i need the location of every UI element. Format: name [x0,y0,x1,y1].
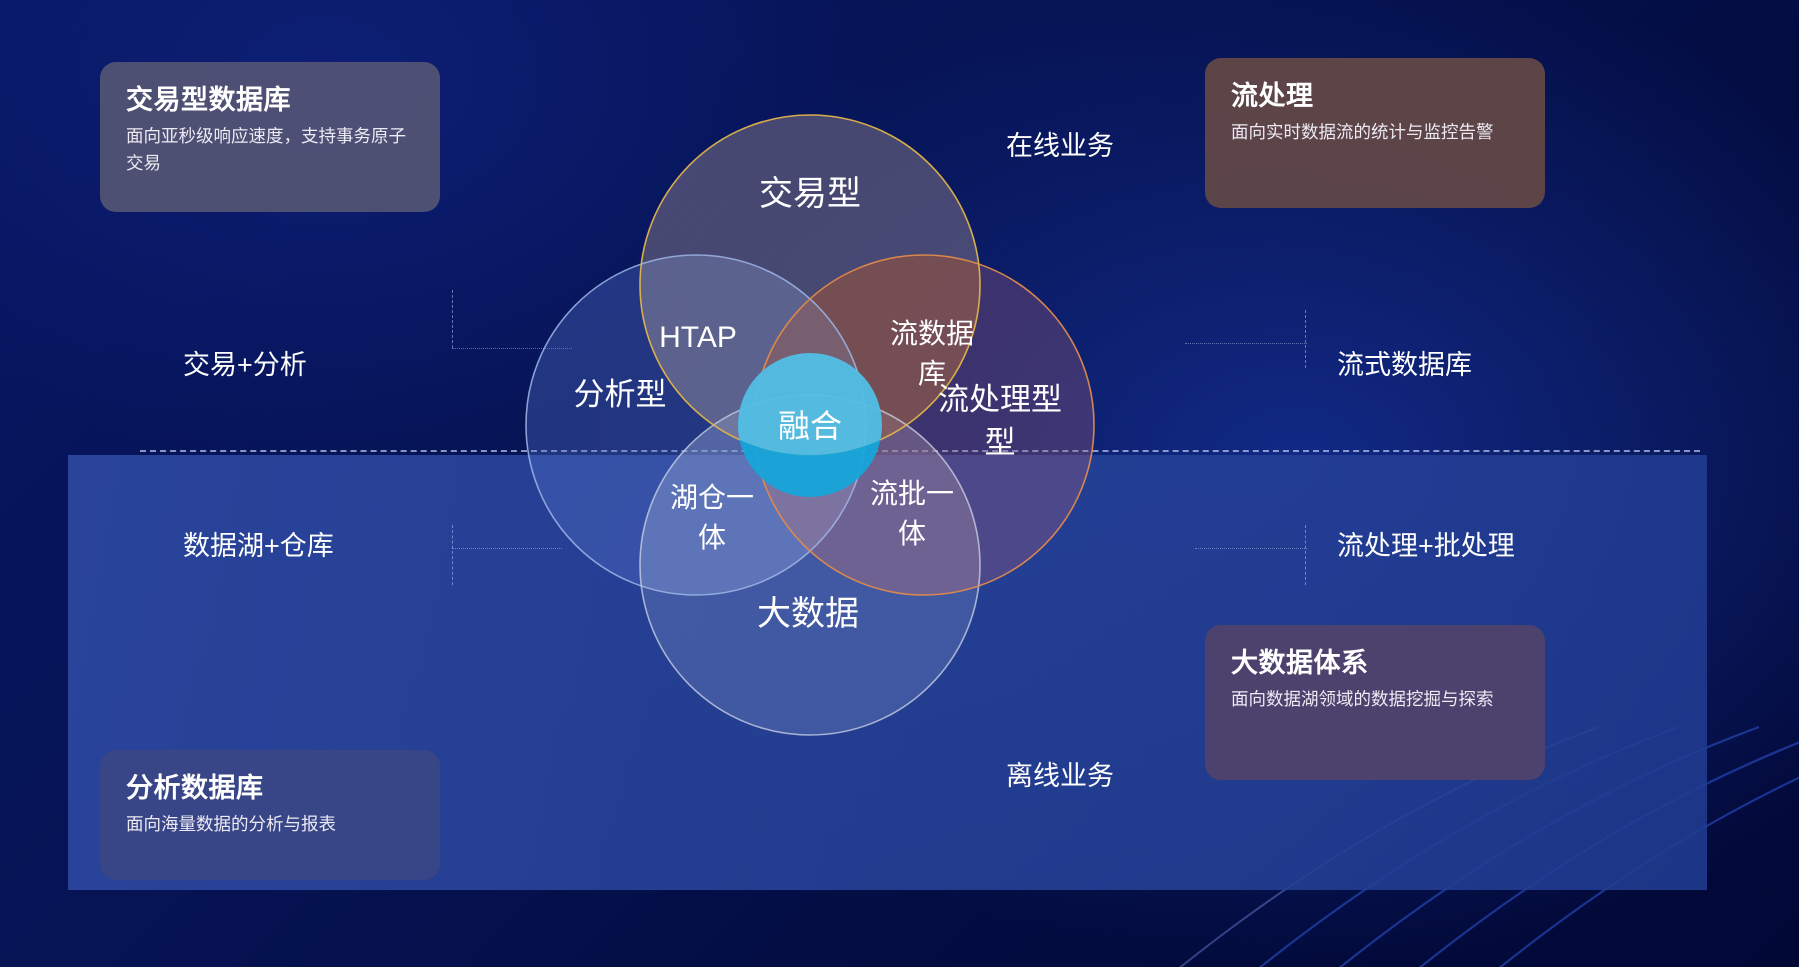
card-description: 面向数据湖领域的数据挖掘与探索 [1231,686,1519,713]
venn-label-htap: HTAP [659,321,737,354]
card-title: 交易型数据库 [126,84,414,117]
label-offline-business: 离线业务 [1006,760,1114,794]
card-title: 流处理 [1231,80,1519,113]
right-tick-upper [1305,310,1306,368]
venn-label-stream-db-2: 库 [918,358,946,389]
venn-label-stream-db-1: 流数据 [890,318,974,349]
slide-canvas: 交易型 分析型 流处理型 型 大数据 HTAP 流数据 库 湖仓一 体 流批一 … [0,0,1799,967]
venn-label-fusion: 融合 [778,408,842,444]
label-transaction-plus-analysis: 交易+分析 [183,349,307,383]
right-tick-lower [1305,525,1306,585]
card-description: 面向亚秒级响应速度，支持事务原子交易 [126,123,414,176]
venn-label-analytical: 分析型 [574,377,667,412]
right-leader-lower [1195,548,1307,549]
label-stream-plus-batch: 流处理+批处理 [1337,530,1515,564]
card-description: 面向实时数据流的统计与监控告警 [1231,119,1519,146]
card-bigdata-system[interactable]: 大数据体系 面向数据湖领域的数据挖掘与探索 [1205,625,1545,780]
card-title: 分析数据库 [126,772,414,805]
venn-label-lakehouse-2: 体 [698,522,726,553]
venn-label-stream-batch-2: 体 [898,518,926,549]
label-datalake-plus-warehouse: 数据湖+仓库 [183,530,334,564]
left-tick-lower [452,525,453,585]
venn-label-bigdata: 大数据 [757,595,859,633]
label-streaming-database: 流式数据库 [1337,349,1472,383]
venn-label-stream-batch-1: 流批一 [870,478,954,509]
venn-label-stream: 流处理型 [938,382,1062,417]
card-stream-processing[interactable]: 流处理 面向实时数据流的统计与监控告警 [1205,58,1545,208]
label-online-business: 在线业务 [1006,130,1114,164]
venn-label-transactional: 交易型 [759,175,861,213]
card-title: 大数据体系 [1231,647,1519,680]
venn-diagram: 交易型 分析型 流处理型 型 大数据 HTAP 流数据 库 湖仓一 体 流批一 … [500,85,1120,765]
venn-label-stream-line2: 型 [985,425,1016,460]
right-leader-upper [1185,343,1307,344]
card-analytical-db[interactable]: 分析数据库 面向海量数据的分析与报表 [100,750,440,880]
left-tick-upper [452,290,453,348]
card-description: 面向海量数据的分析与报表 [126,811,414,838]
venn-label-lakehouse-1: 湖仓一 [670,482,754,513]
card-transactional-db[interactable]: 交易型数据库 面向亚秒级响应速度，支持事务原子交易 [100,62,440,212]
